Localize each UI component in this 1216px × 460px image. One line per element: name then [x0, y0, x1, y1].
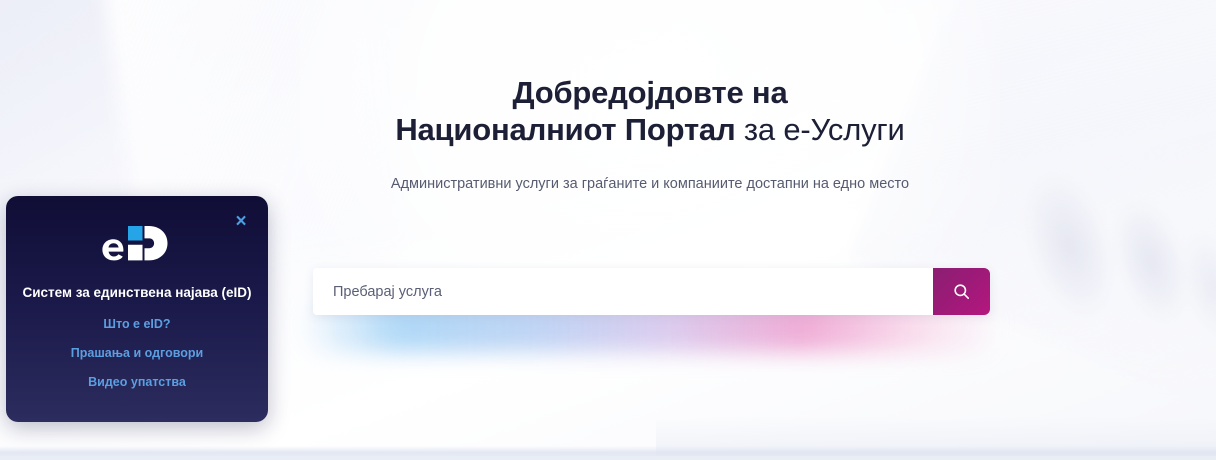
page-title: Добредојдовте на Националниот Портал за … — [300, 74, 1000, 148]
search-submit-button[interactable] — [933, 268, 990, 315]
eid-logo-mark — [94, 222, 180, 270]
eid-card: × Систем за единствена најава (eID) Што … — [6, 196, 268, 422]
search-bar — [313, 268, 990, 315]
page-subtitle: Административни услуги за граѓаните и ко… — [300, 174, 1000, 194]
page-title-emphasis: Националниот Портал — [395, 112, 735, 147]
eid-logo — [94, 222, 180, 270]
eid-card-links: Што е eID? Прашања и одговори Видео упат… — [6, 316, 268, 390]
eid-link-video-tutorials[interactable]: Видео упатства — [6, 374, 268, 390]
search-input[interactable] — [313, 268, 933, 315]
eid-link-faq[interactable]: Прашања и одговори — [6, 345, 268, 361]
page-root: Добредојдовте на Националниот Портал за … — [0, 0, 1216, 460]
background-bottom-strip — [0, 456, 1216, 460]
page-title-remainder: за е-Услуги — [735, 112, 904, 147]
hero-section: Добредојдовте на Националниот Портал за … — [300, 74, 1000, 194]
eid-link-what-is-eid[interactable]: Што е eID? — [6, 316, 268, 332]
page-title-line-1: Добредојдовте на — [300, 74, 1000, 111]
close-icon[interactable]: × — [230, 210, 252, 232]
eid-card-title: Систем за единствена најава (eID) — [22, 284, 252, 302]
page-title-line-2: Националниот Портал за е-Услуги — [300, 111, 1000, 148]
search-icon — [952, 282, 971, 301]
